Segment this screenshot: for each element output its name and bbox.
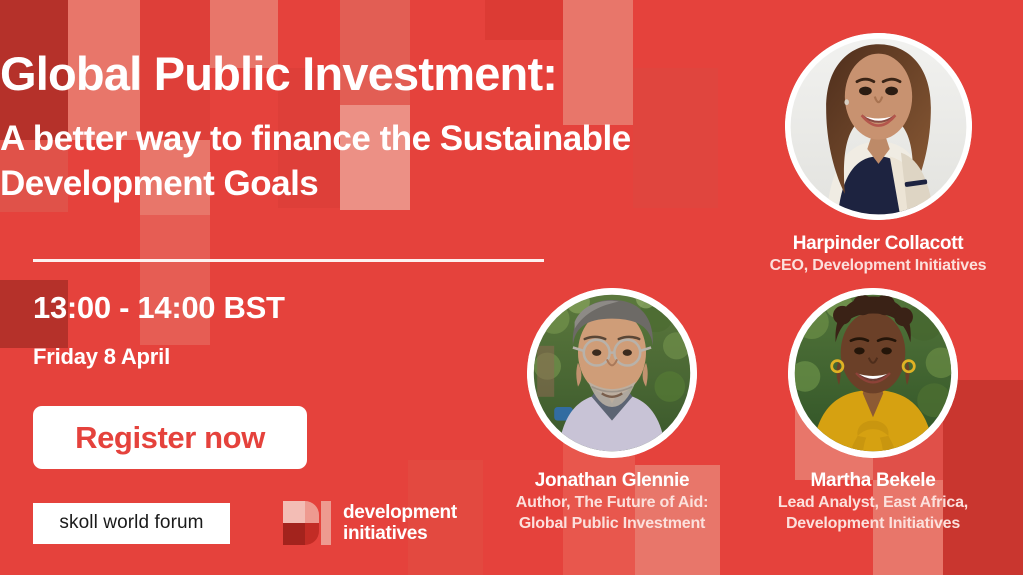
speaker-role-line2: Development Initiatives (723, 513, 1023, 534)
page-title-line2: A better way to finance the Sustainable (0, 117, 720, 162)
mosaic-tile (340, 210, 410, 345)
register-now-button[interactable]: Register now (33, 406, 307, 469)
register-now-label: Register now (75, 420, 265, 456)
di-wordmark-line1: development (343, 502, 457, 523)
di-wordmark-line2: initiatives (343, 523, 457, 544)
avatar-jonathan-glennie (527, 288, 697, 458)
skoll-world-forum-logo: skoll world forum (33, 503, 230, 544)
speaker-role-line1: CEO, Development Initiatives (733, 255, 1023, 276)
horizontal-divider (33, 259, 544, 262)
speaker-name: Harpinder Collacott (733, 232, 1023, 255)
webinar-promo-poster: Global Public Investment: A better way t… (0, 0, 1023, 575)
avatar-martha-bekele (788, 288, 958, 458)
mosaic-tile (0, 212, 68, 280)
speaker-role-line1: Lead Analyst, East Africa, (723, 492, 1023, 513)
page-title-line1: Global Public Investment: (0, 50, 720, 97)
avatar-harpinder-collacott (785, 33, 972, 220)
speaker-card-harpinder-collacott: Harpinder Collacott CEO, Development Ini… (733, 33, 1023, 276)
development-initiatives-mark-icon (283, 501, 331, 545)
development-initiatives-logo: development initiatives (283, 501, 457, 545)
title-block: Global Public Investment: A better way t… (0, 50, 720, 207)
mosaic-tile (485, 0, 563, 40)
event-date: Friday 8 April (33, 344, 170, 370)
event-time: 13:00 - 14:00 BST (33, 290, 285, 326)
logo-row: skoll world forum development initiative… (33, 502, 457, 544)
speaker-card-martha-bekele: Martha Bekele Lead Analyst, East Africa,… (723, 288, 1023, 534)
skoll-world-forum-label: skoll world forum (59, 512, 203, 534)
mosaic-tile (278, 208, 340, 345)
page-title-line3: Development Goals (0, 162, 720, 207)
speaker-name: Martha Bekele (723, 469, 1023, 492)
development-initiatives-wordmark: development initiatives (343, 502, 457, 545)
